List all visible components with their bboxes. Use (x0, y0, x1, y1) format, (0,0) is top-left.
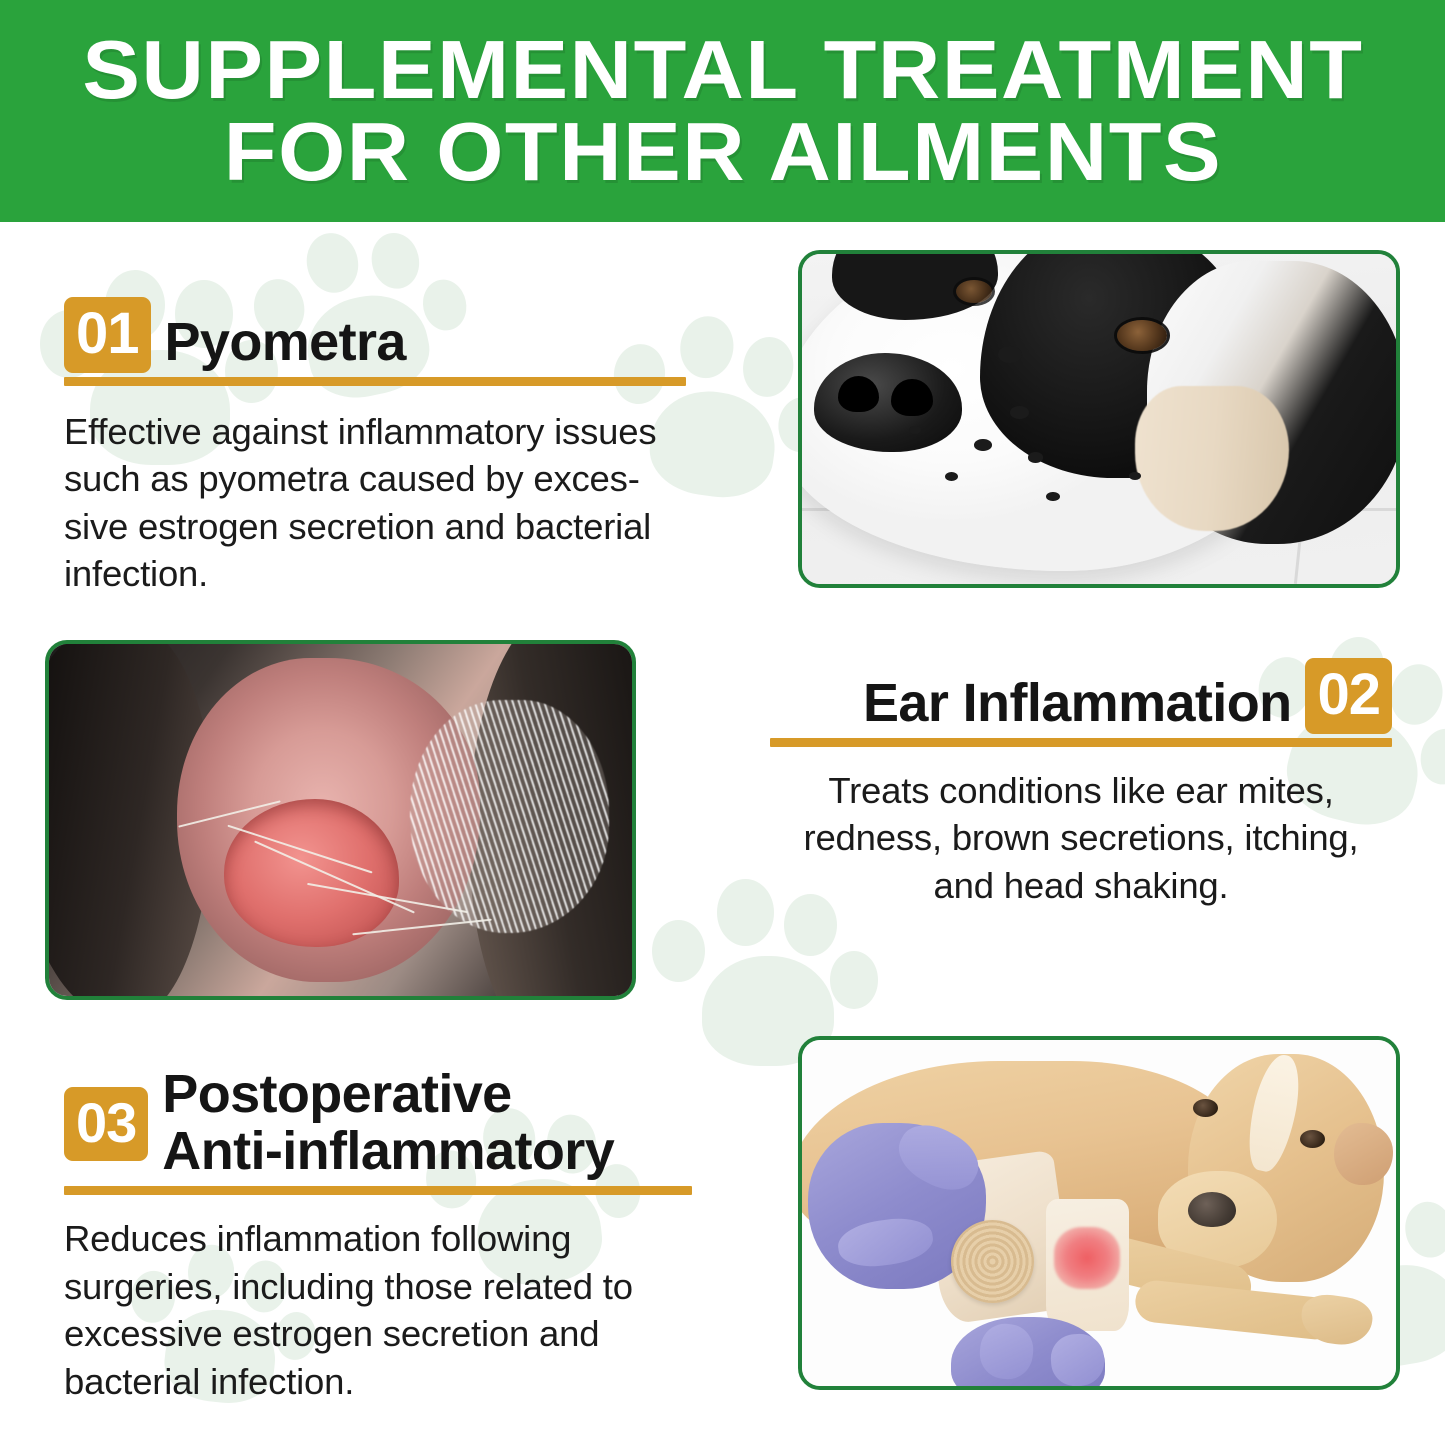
pyometra-photo (798, 250, 1400, 588)
section-ear-inflammation: Ear Inflammation 02 Treats conditions li… (770, 658, 1392, 909)
section-03-number-badge: 03 (64, 1087, 148, 1161)
section-01-title: Pyometra (151, 314, 406, 373)
section-02-number-badge: 02 (1305, 658, 1392, 734)
infographic-page: SUPPLEMENTAL TREATMENT FOR OTHER AILMENT… (0, 0, 1445, 1445)
section-01-rule (64, 377, 686, 386)
header-banner: SUPPLEMENTAL TREATMENT FOR OTHER AILMENT… (0, 0, 1445, 222)
section-01-number-badge: 01 (64, 297, 151, 373)
section-02-header: Ear Inflammation 02 (770, 658, 1392, 734)
section-postoperative: 03 Postoperative Anti-inflammatory Reduc… (64, 1066, 692, 1405)
banner-title-line-2: FOR OTHER AILMENTS (223, 113, 1221, 191)
section-02-body: Treats conditions like ear mites, rednes… (770, 767, 1392, 909)
section-03-body: Reduces inflammation following surgeries… (64, 1215, 664, 1405)
postoperative-photo (798, 1036, 1400, 1390)
banner-title-line-1: SUPPLEMENTAL TREATMENT (82, 31, 1363, 109)
section-03-title: Postoperative Anti-inflammatory (148, 1066, 614, 1182)
section-02-title: Ear Inflammation (863, 675, 1306, 734)
ear-photo (45, 640, 636, 1000)
section-02-rule (770, 738, 1392, 747)
section-pyometra: 01 Pyometra Effective against inflammato… (64, 297, 704, 598)
section-03-rule (64, 1186, 692, 1195)
section-03-header: 03 Postoperative Anti-inflammatory (64, 1066, 692, 1182)
section-01-header: 01 Pyometra (64, 297, 704, 373)
section-01-body: Effective against inflammatory issues su… (64, 408, 704, 598)
